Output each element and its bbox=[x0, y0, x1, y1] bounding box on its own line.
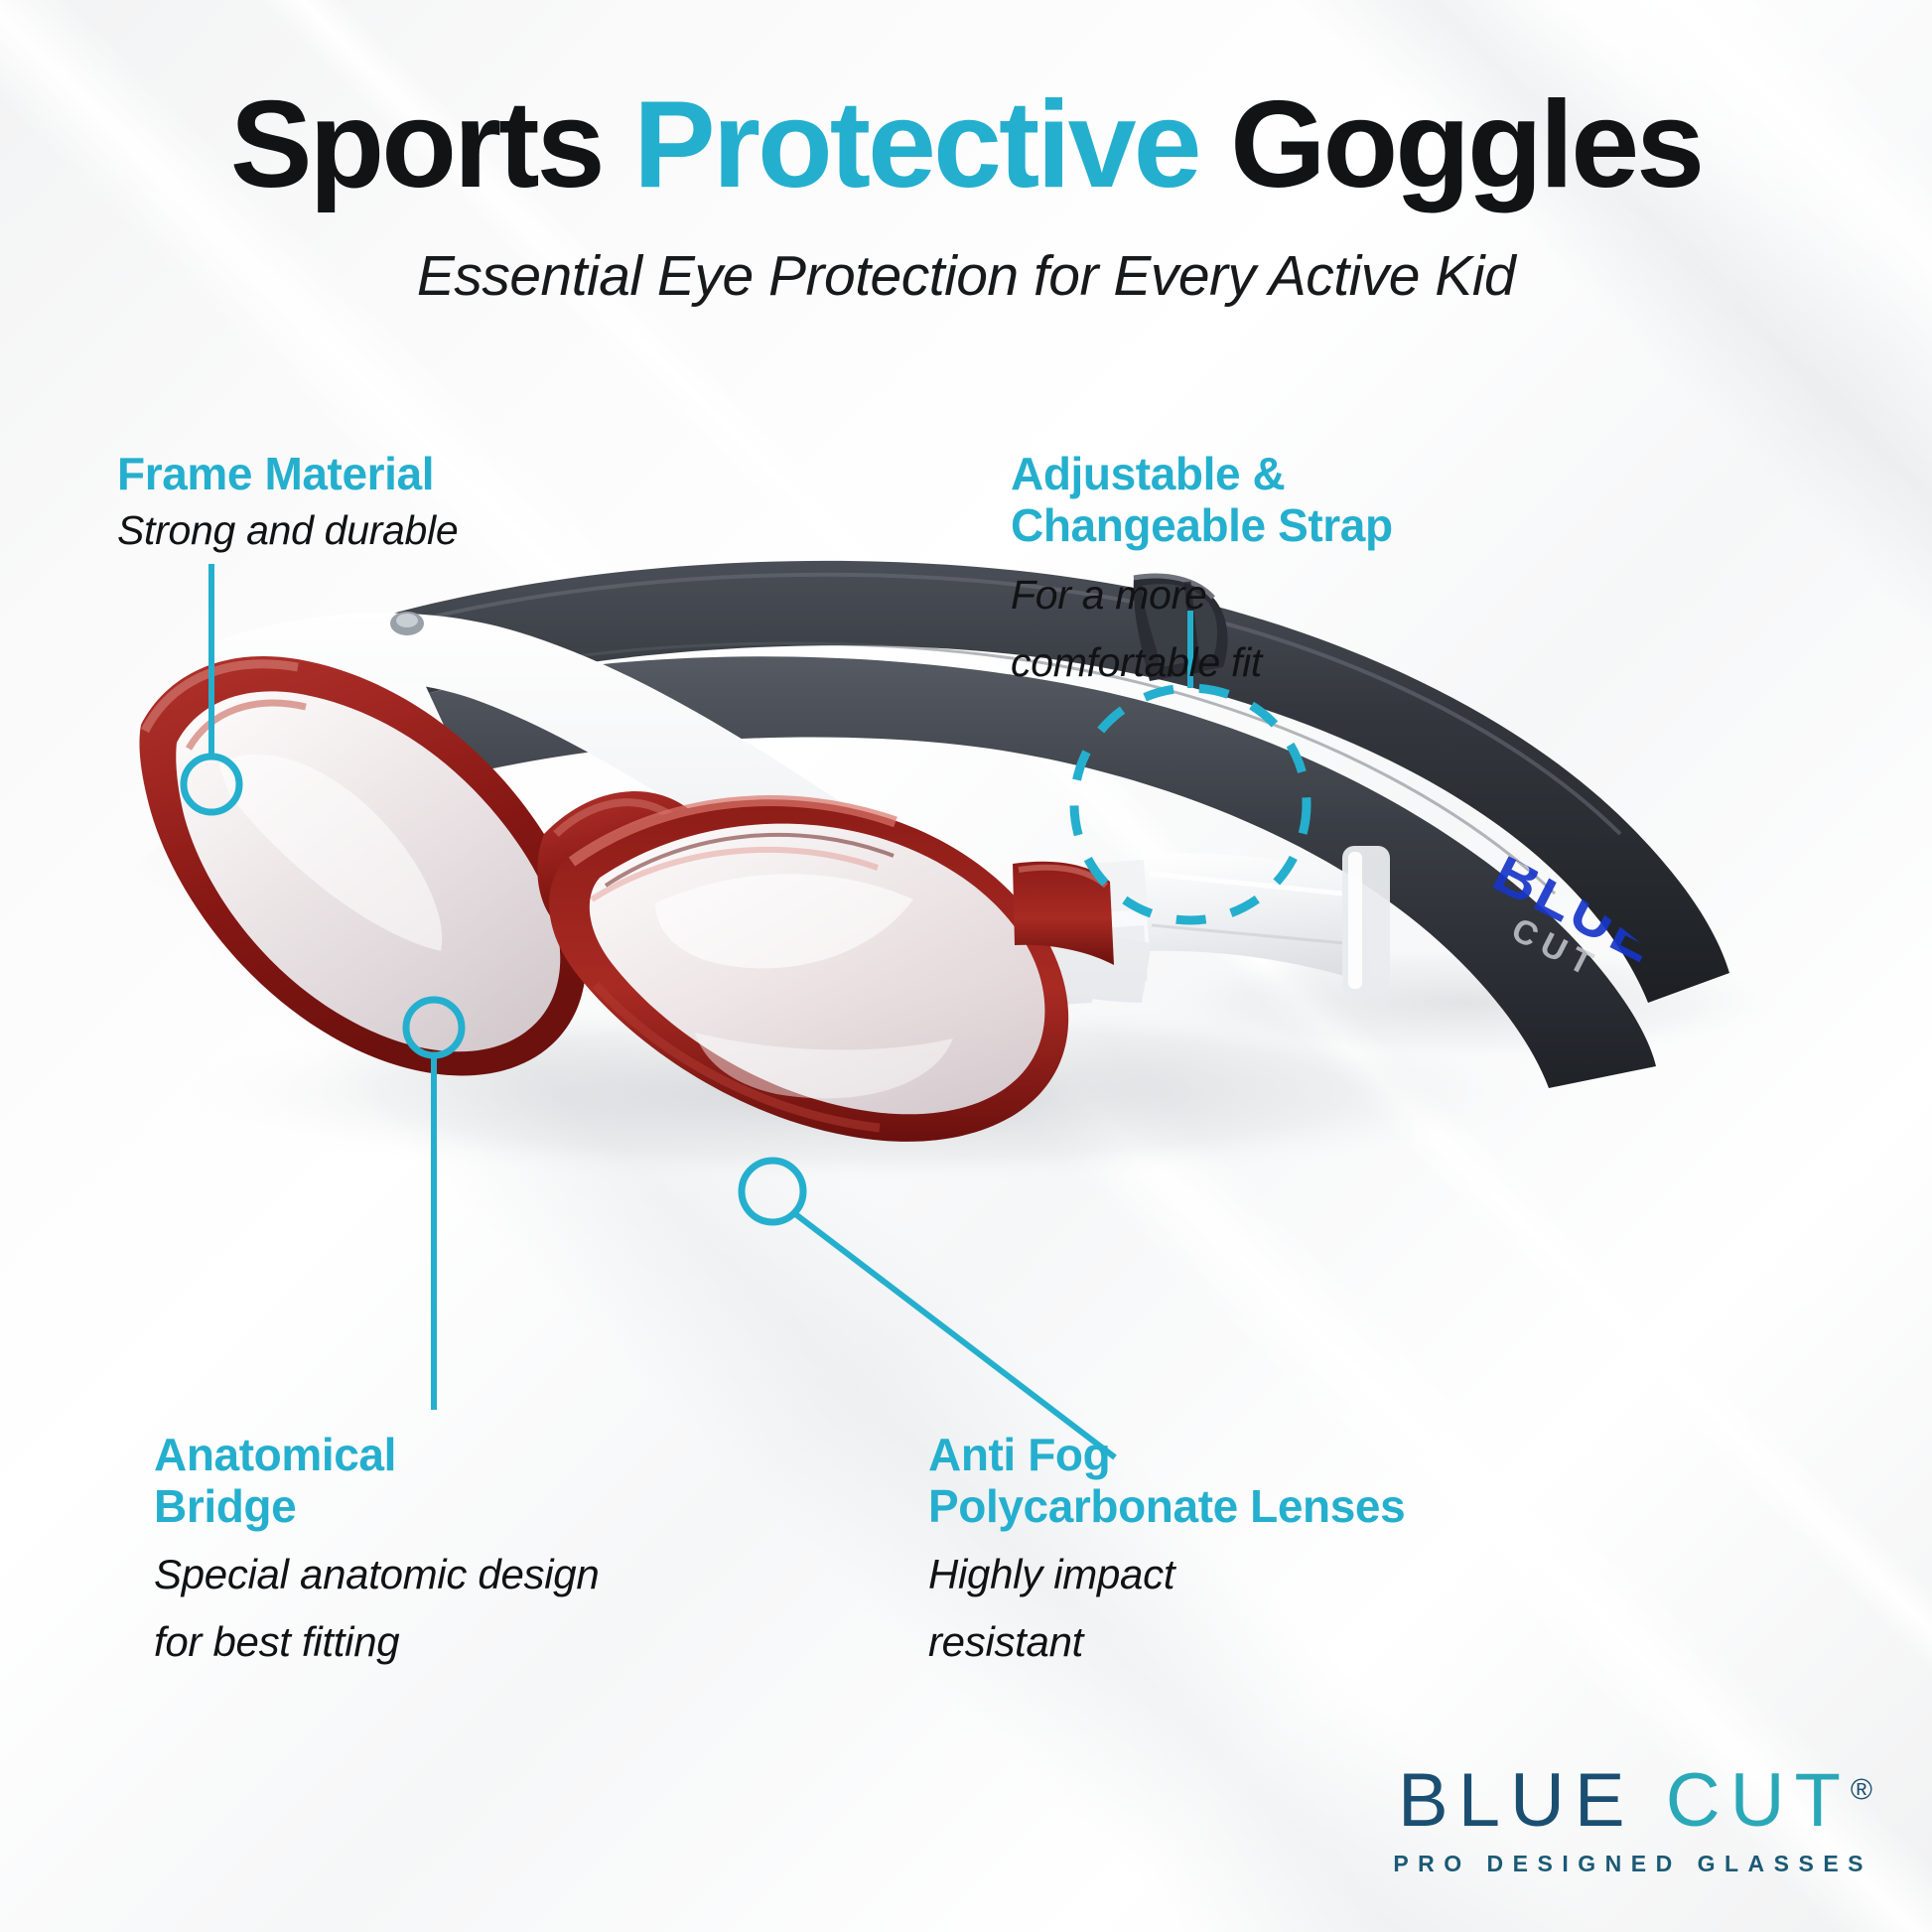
callout-anatomical-bridge: Anatomical Bridge Special anatomic desig… bbox=[154, 1430, 599, 1666]
callout-adjustable-strap-heading-line1: Adjustable & bbox=[1011, 449, 1393, 500]
product-image-goggles: BLUE CUT S bbox=[0, 536, 1932, 1211]
title-highlight: Protective bbox=[633, 76, 1199, 213]
callout-frame-material-heading: Frame Material bbox=[117, 449, 458, 500]
callout-anatomical-bridge-description-line1: Special anatomic design bbox=[154, 1550, 599, 1599]
title-part-2: Goggles bbox=[1199, 76, 1703, 213]
brand-logo-name-secondary: CUT bbox=[1666, 1758, 1851, 1843]
callout-anatomical-bridge-heading-line2: Bridge bbox=[154, 1481, 599, 1533]
callout-anti-fog-lenses-description-line2: resistant bbox=[928, 1617, 1405, 1667]
registered-trademark-icon: ® bbox=[1851, 1774, 1872, 1807]
brand-logo-tagline: PRO DESIGNED GLASSES bbox=[1393, 1851, 1872, 1877]
callout-anatomical-bridge-heading-line1: Anatomical bbox=[154, 1430, 599, 1481]
callout-adjustable-strap-heading-line2: Changeable Strap bbox=[1011, 500, 1393, 552]
infographic-page: Sports Protective Goggles Essential Eye … bbox=[0, 0, 1932, 1932]
callout-frame-material: Frame Material Strong and durable bbox=[117, 449, 458, 554]
title-part-1: Sports bbox=[230, 76, 633, 213]
callout-anti-fog-lenses-heading-line2: Polycarbonate Lenses bbox=[928, 1481, 1405, 1533]
callout-anti-fog-lenses-heading-line1: Anti Fog bbox=[928, 1430, 1405, 1481]
brand-logo: BLUE CUT® PRO DESIGNED GLASSES bbox=[1393, 1763, 1872, 1877]
callout-anti-fog-lenses: Anti Fog Polycarbonate Lenses Highly imp… bbox=[928, 1430, 1405, 1666]
callout-anatomical-bridge-description-line2: for best fitting bbox=[154, 1617, 599, 1667]
callout-adjustable-strap: Adjustable & Changeable Strap For a more… bbox=[1011, 449, 1393, 687]
callout-adjustable-strap-description-line2: comfortable fit bbox=[1011, 638, 1393, 686]
page-title: Sports Protective Goggles bbox=[0, 83, 1932, 207]
callout-frame-material-description: Strong and durable bbox=[117, 506, 458, 554]
brand-logo-wordmark: BLUE CUT® bbox=[1398, 1763, 1872, 1839]
page-subtitle: Essential Eye Protection for Every Activ… bbox=[0, 243, 1932, 309]
brand-logo-name-primary: BLUE bbox=[1398, 1758, 1635, 1843]
callout-anti-fog-lenses-description-line1: Highly impact bbox=[928, 1550, 1405, 1599]
callout-adjustable-strap-description-line1: For a more bbox=[1011, 571, 1393, 619]
